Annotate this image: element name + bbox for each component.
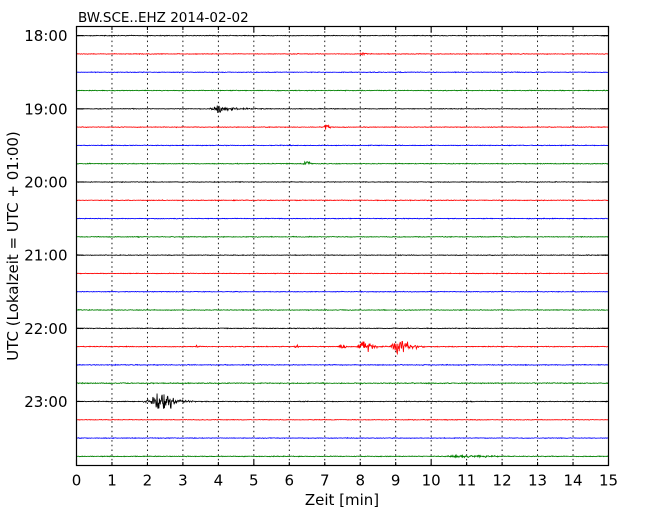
x-tick-label: 1 [107, 472, 117, 490]
x-tick-label: 14 [563, 472, 582, 490]
x-tick-label: 12 [493, 472, 512, 490]
y-axis-label: UTC (Lokalzeit = UTC + 01:00) [4, 131, 22, 361]
x-tick-label: 11 [457, 472, 476, 490]
x-tick-label: 7 [320, 472, 330, 490]
y-tick-label: 22:00 [24, 320, 67, 338]
x-axis-label: Zeit [min] [305, 491, 379, 509]
y-tick-label: 18:00 [24, 27, 67, 45]
seismic-trace [77, 90, 609, 91]
y-tick-label: 23:00 [24, 393, 67, 411]
figure-background [0, 0, 650, 520]
y-tick-label: 20:00 [24, 173, 67, 191]
x-tick-label: 8 [355, 472, 365, 490]
x-tick-label: 4 [214, 472, 224, 490]
seismic-trace [77, 72, 609, 73]
x-tick-label: 0 [72, 472, 82, 490]
x-tick-label: 9 [391, 472, 401, 490]
seismogram-figure: BW.SCE..EHZ 2014-02-02 UTC (Lokalzeit = … [0, 0, 650, 520]
x-tick-label: 13 [528, 472, 547, 490]
x-tick-label: 6 [285, 472, 295, 490]
x-tick-label: 15 [599, 472, 618, 490]
seismic-trace [77, 309, 609, 310]
plot-title: BW.SCE..EHZ 2014-02-02 [78, 10, 249, 26]
y-tick-label: 21:00 [24, 247, 67, 265]
seismic-trace [77, 419, 609, 420]
y-tick-label: 19:00 [24, 100, 67, 118]
x-tick-label: 5 [249, 472, 259, 490]
x-tick-label: 3 [178, 472, 188, 490]
x-tick-label: 2 [143, 472, 153, 490]
x-tick-label: 10 [422, 472, 441, 490]
seismogram-canvas: BW.SCE..EHZ 2014-02-02 UTC (Lokalzeit = … [0, 0, 650, 520]
